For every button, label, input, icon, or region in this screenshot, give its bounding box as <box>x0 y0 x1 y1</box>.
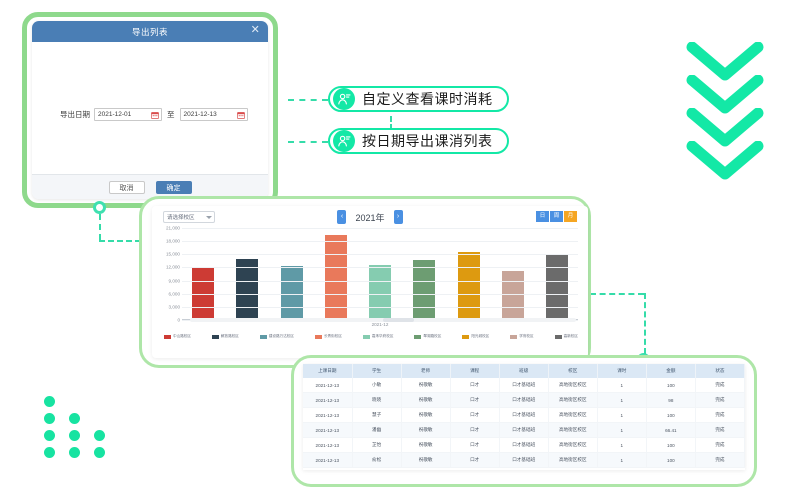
table-cell: 潘幽 <box>352 423 401 438</box>
legend-swatch <box>260 335 267 339</box>
data-table: 上课日期学生老师课程班级校区课时金额状态 2021-12-13小敏祝敬敏口才口才… <box>303 364 745 468</box>
table-cell: 高地街区校区 <box>548 438 597 453</box>
table-row[interactable]: 2021-12-13小敏祝敬敏口才口才基础班高地街区校区1100完成 <box>303 378 745 393</box>
calendar-icon <box>237 111 245 119</box>
table-cell: 口才 <box>450 408 499 423</box>
user-check-icon <box>333 130 355 152</box>
legend-label: 解放路校区 <box>221 334 239 339</box>
gridline <box>182 267 578 268</box>
legend-item[interactable]: 建设路万达校区 <box>260 334 294 339</box>
table-cell: 1 <box>597 408 646 423</box>
table-row[interactable]: 2021-12-13潘幽祝敬敏口才口才基础班高地街区校区166.41完成 <box>303 423 745 438</box>
callout-pill-2: 按日期导出课消列表 <box>328 128 509 154</box>
table-column-header: 学生 <box>352 364 401 378</box>
table-cell: 口才基础班 <box>499 408 548 423</box>
legend-swatch <box>555 335 562 339</box>
table-cell: 晓晓 <box>352 393 401 408</box>
decor-dot <box>44 430 55 441</box>
callout-pill-1: 自定义查看课时消耗 <box>328 86 509 112</box>
table-column-header: 金额 <box>646 364 695 378</box>
table-cell: 完成 <box>695 438 744 453</box>
decor-dot <box>69 413 80 424</box>
close-icon[interactable]: ✕ <box>250 24 261 37</box>
table-column-header: 老师 <box>401 364 450 378</box>
table-row[interactable]: 2021-12-13晓晓祝敬敏口才口才基础班高地街区校区198完成 <box>303 393 745 408</box>
prev-year-button[interactable]: ‹ <box>337 210 346 224</box>
legend-item[interactable]: 嘉禾华府校区 <box>363 334 394 339</box>
table-column-header: 课时 <box>597 364 646 378</box>
table-row[interactable]: 2021-12-13芷怡祝敬敏口才口才基础班高地街区校区1100完成 <box>303 438 745 453</box>
table-cell: 高地街区校区 <box>548 408 597 423</box>
dot-grid-decoration <box>44 396 116 458</box>
connector-line-dialog-v <box>99 214 101 240</box>
legend-label: 翠湖路校区 <box>423 334 441 339</box>
table-cell: 2021-12-13 <box>303 378 352 393</box>
table-cell: 完成 <box>695 453 744 468</box>
dialog-title-bar: 导出列表 ✕ <box>32 21 268 42</box>
table-cell: 口才 <box>450 453 499 468</box>
decor-dot <box>94 447 105 458</box>
connector-line-callout-2 <box>288 141 328 143</box>
chart-scrollbar-thumb[interactable] <box>383 318 414 322</box>
connector-line-table-h <box>590 293 644 295</box>
gridline <box>182 228 578 229</box>
table-cell: 100 <box>646 453 695 468</box>
table-cell: 口才基础班 <box>499 423 548 438</box>
legend-item[interactable]: 解放路校区 <box>212 334 239 339</box>
table-cell: 高地街区校区 <box>548 423 597 438</box>
legend-item[interactable]: 长青街校区 <box>315 334 342 339</box>
table-cell: 芷怡 <box>352 438 401 453</box>
legend-item[interactable]: 翠湖路校区 <box>414 334 441 339</box>
y-axis-tick: 12,000 <box>166 265 180 270</box>
y-axis-tick: 0 <box>177 318 180 323</box>
table-row[interactable]: 2021-12-13慧子祝敬敏口才口才基础班高地街区校区1100完成 <box>303 408 745 423</box>
legend-swatch <box>212 335 219 339</box>
table-cell: 100 <box>646 408 695 423</box>
table-cell: 慧子 <box>352 408 401 423</box>
export-date-label: 导出日期 <box>60 109 90 120</box>
chevron-down-icon <box>686 141 764 181</box>
table-column-header: 上课日期 <box>303 364 352 378</box>
connector-knob-dialog <box>93 201 106 214</box>
legend-label: 中山路校区 <box>173 334 191 339</box>
legend-swatch <box>414 335 421 339</box>
bar[interactable] <box>369 265 391 320</box>
gridline <box>182 281 578 282</box>
table-cell: 2021-12-13 <box>303 438 352 453</box>
table-cell: 完成 <box>695 378 744 393</box>
legend-swatch <box>315 335 322 339</box>
table-cell: 祝敬敏 <box>401 393 450 408</box>
bar[interactable] <box>546 254 568 320</box>
chart-gridlines <box>182 228 578 320</box>
chevron-decoration-group <box>686 42 768 180</box>
bar[interactable] <box>458 252 480 320</box>
calendar-icon <box>151 111 159 119</box>
table-cell: 口才 <box>450 378 499 393</box>
table-cell: 高地街区校区 <box>548 453 597 468</box>
export-date-row: 导出日期 2021-12-01 至 2021-12-13 <box>60 108 248 121</box>
gridline <box>182 294 578 295</box>
legend-label: 长青街校区 <box>324 334 342 339</box>
decor-dot <box>69 447 80 458</box>
cancel-button[interactable]: 取消 <box>109 181 145 194</box>
decor-dot <box>44 447 55 458</box>
legend-label: 高新校区 <box>564 334 578 339</box>
y-axis-tick: 21,000 <box>166 226 180 231</box>
table-cell: 祝敬敏 <box>401 453 450 468</box>
range-toggle-group: 日 周 月 <box>536 211 577 222</box>
table-cell: 口才基础班 <box>499 453 548 468</box>
y-axis-tick: 18,000 <box>166 239 180 244</box>
y-axis-tick: 3,000 <box>169 304 181 309</box>
y-axis-tick: 6,000 <box>169 291 181 296</box>
table-body: 2021-12-13小敏祝敬敏口才口才基础班高地街区校区1100完成2021-1… <box>303 378 745 468</box>
legend-item[interactable]: 高新校区 <box>555 334 578 339</box>
table-cell: 98 <box>646 393 695 408</box>
legend-item[interactable]: 学府校区 <box>510 334 533 339</box>
range-toggle-day[interactable]: 日 <box>536 211 550 222</box>
confirm-button[interactable]: 确定 <box>156 181 192 194</box>
table-cell: 祝敬敏 <box>401 423 450 438</box>
y-axis-tick: 9,000 <box>169 278 181 283</box>
decor-dot <box>94 430 105 441</box>
table-cell: 100 <box>646 378 695 393</box>
end-date-input[interactable]: 2021-12-13 <box>180 108 248 121</box>
table-cell: 2021-12-13 <box>303 393 352 408</box>
legend-swatch <box>363 335 370 339</box>
legend-label: 嘉禾华府校区 <box>372 334 394 339</box>
y-axis-tick: 15,000 <box>166 252 180 257</box>
bar[interactable] <box>502 271 524 320</box>
legend-label: 学府校区 <box>519 334 533 339</box>
legend-swatch <box>164 335 171 339</box>
year-label: 2021年 <box>355 211 384 224</box>
start-date-input[interactable]: 2021-12-01 <box>94 108 162 121</box>
table-cell: 完成 <box>695 393 744 408</box>
table-row[interactable]: 2021-12-13俞松祝敬敏口才口才基础班高地街区校区1100完成 <box>303 453 745 468</box>
start-date-value: 2021-12-01 <box>98 111 149 118</box>
table-cell: 1 <box>597 393 646 408</box>
table-cell: 2021-12-13 <box>303 408 352 423</box>
table-cell: 高地街区校区 <box>548 378 597 393</box>
y-axis: 03,0006,0009,00012,00015,00018,00021,000 <box>152 228 182 320</box>
table-cell: 口才 <box>450 393 499 408</box>
table-column-header: 校区 <box>548 364 597 378</box>
legend-item[interactable]: 阳光城校区 <box>462 334 489 339</box>
gridline <box>182 241 578 242</box>
chart-toolbar: 请选择校区 ‹ 2021年 › 日 周 月 <box>152 206 588 228</box>
table-cell: 口才 <box>450 438 499 453</box>
table-header-row: 上课日期学生老师课程班级校区课时金额状态 <box>303 364 745 378</box>
x-axis-label: 2021-12 <box>182 322 578 327</box>
user-check-icon <box>333 88 355 110</box>
table-column-header: 状态 <box>695 364 744 378</box>
legend-label: 建设路万达校区 <box>269 334 294 339</box>
date-range-separator: 至 <box>167 109 175 120</box>
legend-label: 阳光城校区 <box>471 334 489 339</box>
chart-scrollbar[interactable] <box>190 318 576 322</box>
export-list-dialog: 导出列表 ✕ 导出日期 2021-12-01 至 20 <box>32 21 268 199</box>
connector-line-dialog-h <box>99 240 141 242</box>
connector-line-table-v <box>644 293 646 354</box>
table-cell: 1 <box>597 438 646 453</box>
table-cell: 2021-12-13 <box>303 453 352 468</box>
year-navigator: ‹ 2021年 › <box>152 210 588 224</box>
decor-dot <box>44 413 55 424</box>
table-head: 上课日期学生老师课程班级校区课时金额状态 <box>303 364 745 378</box>
table-cell: 口才 <box>450 423 499 438</box>
table-cell: 口才基础班 <box>499 438 548 453</box>
table-cell: 完成 <box>695 423 744 438</box>
class-consumption-table: 上课日期学生老师课程班级校区课时金额状态 2021-12-13小敏祝敬敏口才口才… <box>303 364 745 470</box>
table-cell: 俞松 <box>352 453 401 468</box>
decor-dot <box>44 396 55 407</box>
chart-panel: 请选择校区 ‹ 2021年 › 日 周 月 03,0006,0009,00012… <box>152 206 588 358</box>
table-column-header: 班级 <box>499 364 548 378</box>
dialog-title: 导出列表 <box>132 26 168 38</box>
table-cell: 口才基础班 <box>499 393 548 408</box>
bar-chart: 03,0006,0009,00012,00015,00018,00021,000… <box>152 228 580 320</box>
table-cell: 2021-12-13 <box>303 423 352 438</box>
table-cell: 1 <box>597 453 646 468</box>
next-year-button[interactable]: › <box>394 210 403 224</box>
table-cell: 祝敬敏 <box>401 378 450 393</box>
gridline <box>182 254 578 255</box>
legend-swatch <box>462 335 469 339</box>
legend-item[interactable]: 中山路校区 <box>164 334 191 339</box>
table-cell: 100 <box>646 438 695 453</box>
table-cell: 高地街区校区 <box>548 393 597 408</box>
bar[interactable] <box>413 260 435 320</box>
range-toggle-month[interactable]: 月 <box>564 211 577 222</box>
end-date-value: 2021-12-13 <box>184 111 235 118</box>
table-cell: 小敏 <box>352 378 401 393</box>
chart-legend: 中山路校区解放路校区建设路万达校区长青街校区嘉禾华府校区翠湖路校区阳光城校区学府… <box>164 334 578 339</box>
table-cell: 66.41 <box>646 423 695 438</box>
callout-label-1: 自定义查看课时消耗 <box>362 89 493 109</box>
dialog-body: 导出日期 2021-12-01 至 2021-12-13 <box>32 42 268 174</box>
decor-dot <box>69 430 80 441</box>
range-toggle-week[interactable]: 周 <box>550 211 564 222</box>
table-cell: 祝敬敏 <box>401 438 450 453</box>
legend-swatch <box>510 335 517 339</box>
table-cell: 祝敬敏 <box>401 408 450 423</box>
callout-label-2: 按日期导出课消列表 <box>362 131 493 151</box>
table-cell: 1 <box>597 423 646 438</box>
gridline <box>182 307 578 308</box>
table-cell: 1 <box>597 378 646 393</box>
table-cell: 完成 <box>695 408 744 423</box>
screenshot-stage: 导出列表 ✕ 导出日期 2021-12-01 至 20 <box>0 0 800 500</box>
table-column-header: 课程 <box>450 364 499 378</box>
table-cell: 口才基础班 <box>499 378 548 393</box>
connector-line-callout-1 <box>288 99 328 101</box>
